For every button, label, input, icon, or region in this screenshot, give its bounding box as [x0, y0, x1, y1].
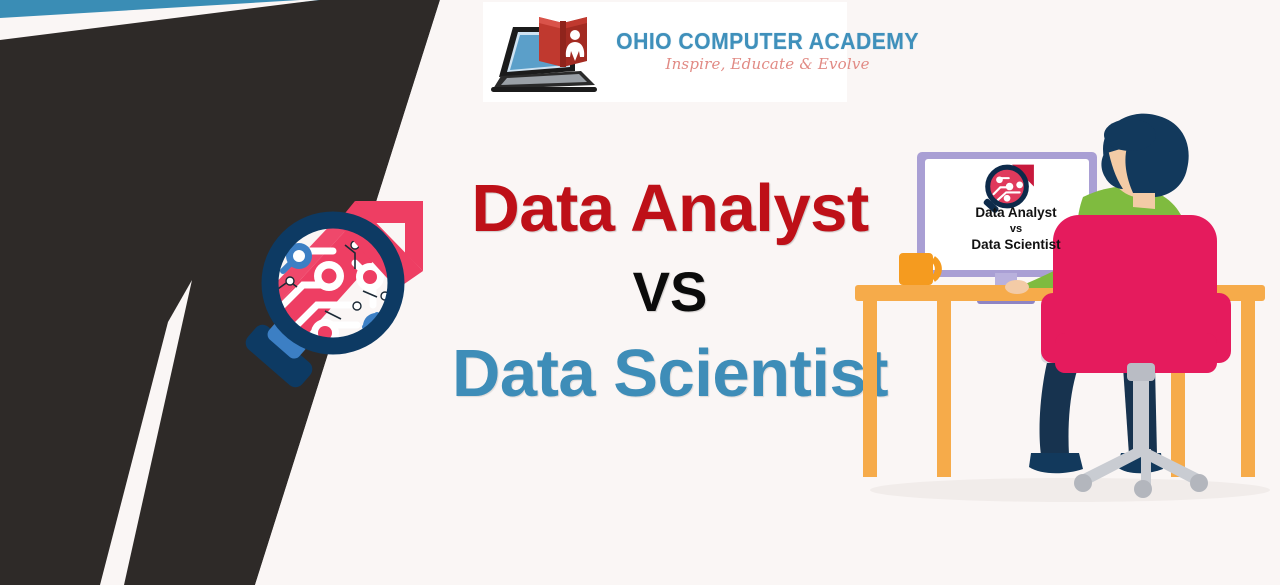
headline-data-analyst: Data Analyst [420, 175, 920, 242]
logo-tagline: Inspire, Educate & Evolve [665, 55, 869, 73]
headline-vs: VS [420, 264, 920, 320]
logo-title: OHIO COMPUTER ACADEMY [616, 29, 919, 53]
screen-line-data-analyst: Data Analyst [952, 205, 1080, 221]
headline-data-scientist: Data Scientist [420, 340, 920, 407]
person-at-desk-illustration [855, 105, 1280, 505]
magnifying-glass-circuit-icon [237, 193, 427, 405]
laptop-with-open-book-icon [491, 9, 601, 95]
headline-block: Data Analyst VS Data Scientist [420, 175, 920, 407]
brand-logo-panel[interactable]: OHIO COMPUTER ACADEMY Inspire, Educate &… [483, 2, 847, 102]
poster-canvas: OHIO COMPUTER ACADEMY Inspire, Educate &… [0, 0, 1280, 585]
coffee-mug [899, 253, 938, 285]
screen-line-data-scientist: Data Scientist [952, 237, 1080, 253]
logo-wordmark: OHIO COMPUTER ACADEMY Inspire, Educate &… [603, 29, 932, 72]
screen-line-vs: vs [952, 223, 1080, 236]
monitor-screen-caption: Data Analyst vs Data Scientist [952, 205, 1080, 253]
